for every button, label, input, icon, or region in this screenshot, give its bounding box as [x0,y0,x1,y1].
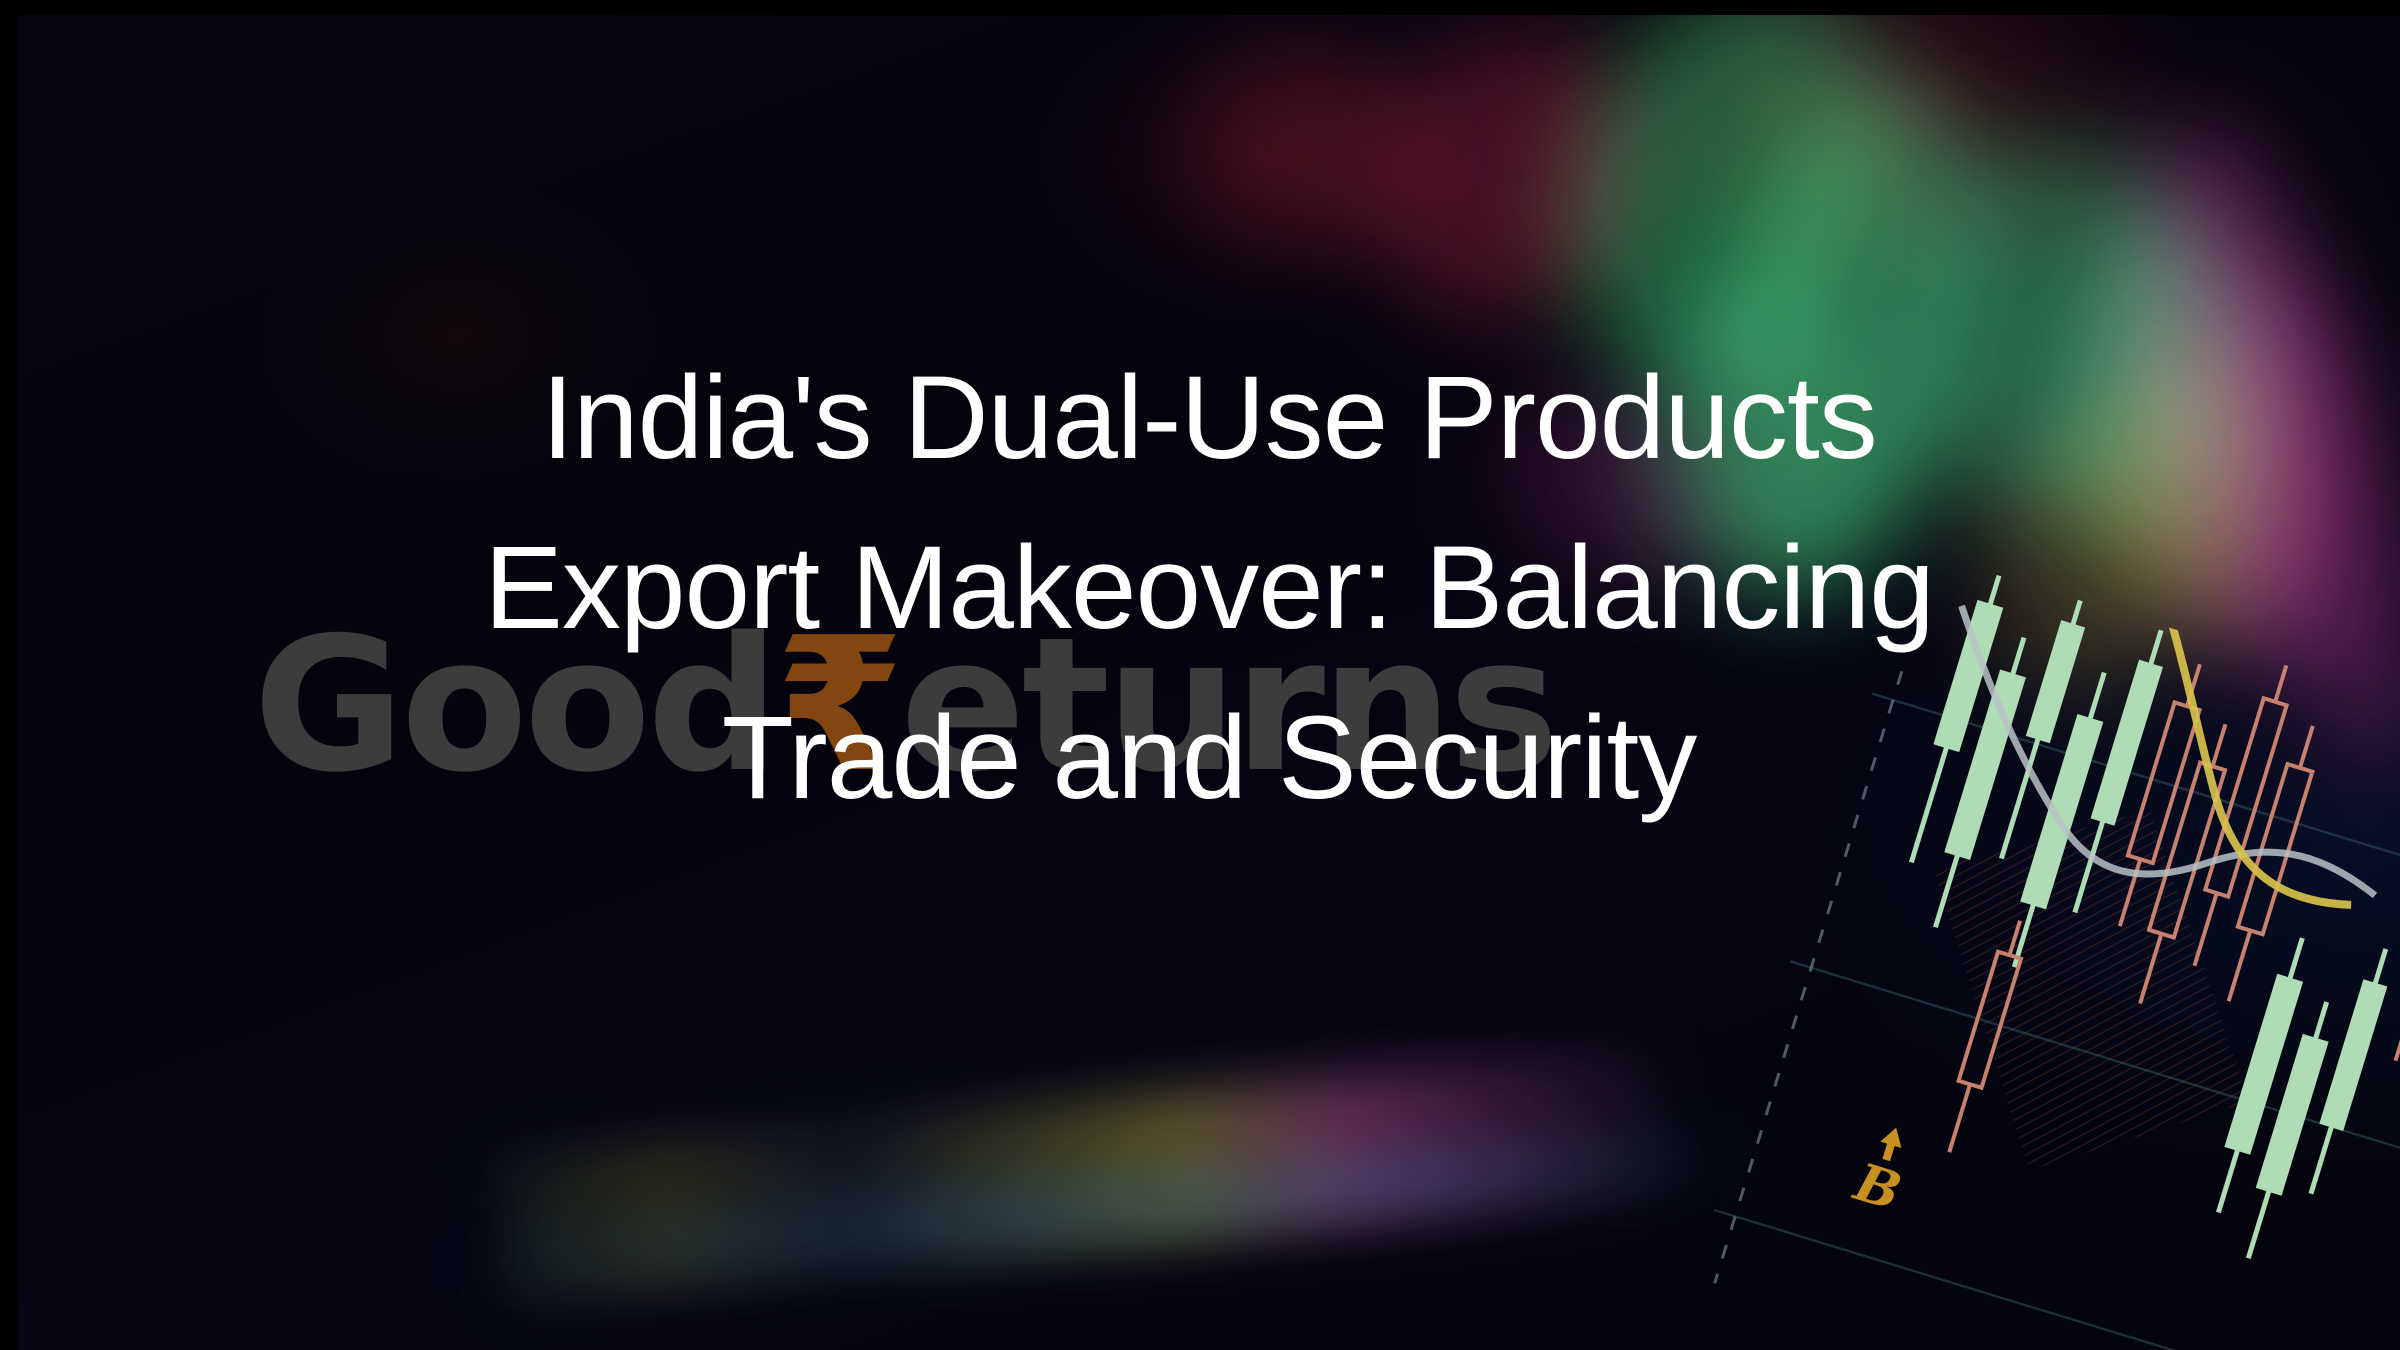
frame-border-top [0,0,2400,15]
headline-line-3: Trade and Security [722,673,1697,843]
frame-border-left [0,0,18,1350]
card-stage: B Good₹eturns India's Dual-Use Products … [18,15,2400,1350]
hero-card: B Good₹eturns India's Dual-Use Products … [0,0,2400,1350]
headline-line-1: India's Dual-Use Products [541,333,1876,503]
headline-block: India's Dual-Use Products Export Makeove… [18,15,2400,1350]
headline-line-2: Export Makeover: Balancing [484,503,1934,673]
